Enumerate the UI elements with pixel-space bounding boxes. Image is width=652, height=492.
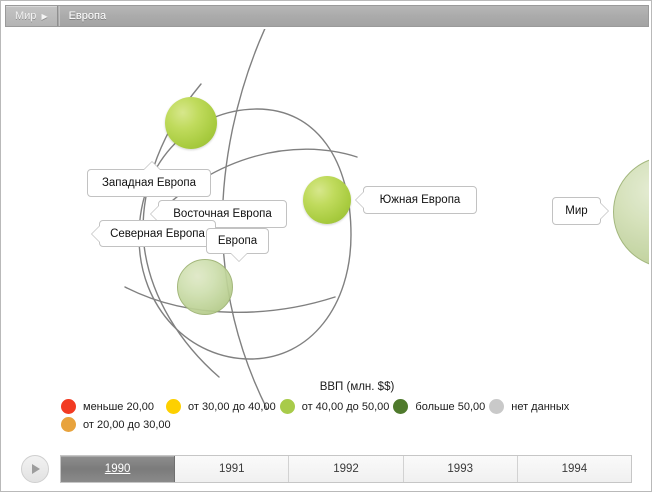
breadcrumb-item-europe[interactable]: Европа xyxy=(59,6,116,26)
breadcrumb-europe-label: Европа xyxy=(69,10,107,22)
callout-tail-icon xyxy=(356,192,364,208)
legend-label: от 20,00 до 30,00 xyxy=(83,419,171,431)
callout-tail-icon xyxy=(231,253,247,261)
legend-swatch-icon xyxy=(166,399,181,414)
legend-label: от 40,00 до 50,00 xyxy=(302,401,390,413)
bubble-severnaya-evropa[interactable] xyxy=(177,259,233,315)
label-vostochnaya-evropa-text: Восточная Европа xyxy=(173,208,271,220)
year-tab-label: 1993 xyxy=(447,463,473,475)
label-evropa-text: Европа xyxy=(218,235,257,247)
label-mir-text: Мир xyxy=(565,205,587,217)
year-tab-1990[interactable]: 1990 xyxy=(61,456,175,482)
legend-swatch-icon xyxy=(393,399,408,414)
bubble-map-app: Мир ▶ Европа xyxy=(0,0,652,492)
bubble-yuzhnaya-evropa[interactable] xyxy=(303,176,351,224)
play-icon xyxy=(32,464,40,474)
year-tab-1992[interactable]: 1992 xyxy=(289,456,403,482)
callout-tail-icon xyxy=(600,203,608,219)
legend-label: больше 50,00 xyxy=(415,401,485,413)
legend: ВВП (млн. $$) меньше 20,00 от 30,00 до 4… xyxy=(5,381,649,435)
breadcrumb-item-world[interactable]: Мир ▶ xyxy=(6,6,58,26)
legend-label: от 30,00 до 40,00 xyxy=(188,401,276,413)
legend-item-40-50[interactable]: от 40,00 до 50,00 xyxy=(280,399,390,414)
breadcrumb-world-label: Мир xyxy=(15,10,36,22)
label-evropa[interactable]: Европа xyxy=(206,228,269,254)
year-track[interactable]: 1990 1991 1992 1993 1994 xyxy=(60,455,632,483)
year-tab-1993[interactable]: 1993 xyxy=(404,456,518,482)
legend-swatch-icon xyxy=(61,417,76,432)
legend-swatch-icon xyxy=(61,399,76,414)
legend-row: меньше 20,00 от 30,00 до 40,00 от 40,00 … xyxy=(61,399,649,414)
legend-item-less-20[interactable]: меньше 20,00 xyxy=(61,399,154,414)
year-tab-label: 1991 xyxy=(219,463,245,475)
legend-title: ВВП (млн. $$) xyxy=(5,381,649,393)
timeline: 1990 1991 1992 1993 1994 xyxy=(5,451,649,487)
year-tab-1994[interactable]: 1994 xyxy=(518,456,631,482)
year-tab-label: 1994 xyxy=(562,463,588,475)
label-mir[interactable]: Мир xyxy=(552,197,601,225)
label-severnaya-evropa[interactable]: Северная Европа xyxy=(99,220,216,247)
legend-item-more-50[interactable]: больше 50,00 xyxy=(393,399,485,414)
legend-swatch-icon xyxy=(489,399,504,414)
year-tab-label: 1990 xyxy=(105,463,131,475)
bubble-zapadnaya-evropa[interactable] xyxy=(165,97,217,149)
legend-swatch-icon xyxy=(280,399,295,414)
legend-item-no-data[interactable]: нет данных xyxy=(489,399,569,414)
label-yuzhnaya-evropa-text: Южная Европа xyxy=(380,194,461,206)
label-zapadnaya-evropa[interactable]: Западная Европа xyxy=(87,169,211,197)
legend-item-30-40[interactable]: от 30,00 до 40,00 xyxy=(166,399,276,414)
legend-rows: меньше 20,00 от 30,00 до 40,00 от 40,00 … xyxy=(5,399,649,432)
year-tab-label: 1992 xyxy=(333,463,359,475)
legend-item-20-30[interactable]: от 20,00 до 30,00 xyxy=(61,417,171,432)
legend-label: меньше 20,00 xyxy=(83,401,154,413)
callout-tail-icon xyxy=(144,162,160,170)
callout-tail-icon xyxy=(92,226,100,242)
year-tab-1991[interactable]: 1991 xyxy=(175,456,289,482)
legend-label: нет данных xyxy=(511,401,569,413)
label-severnaya-evropa-text: Северная Европа xyxy=(110,228,205,240)
play-button[interactable] xyxy=(21,455,49,483)
chevron-right-icon: ▶ xyxy=(41,12,47,21)
legend-row: от 20,00 до 30,00 xyxy=(61,417,649,432)
breadcrumb: Мир ▶ Европа xyxy=(5,5,649,27)
label-zapadnaya-evropa-text: Западная Европа xyxy=(102,177,196,189)
label-yuzhnaya-evropa[interactable]: Южная Европа xyxy=(363,186,477,214)
